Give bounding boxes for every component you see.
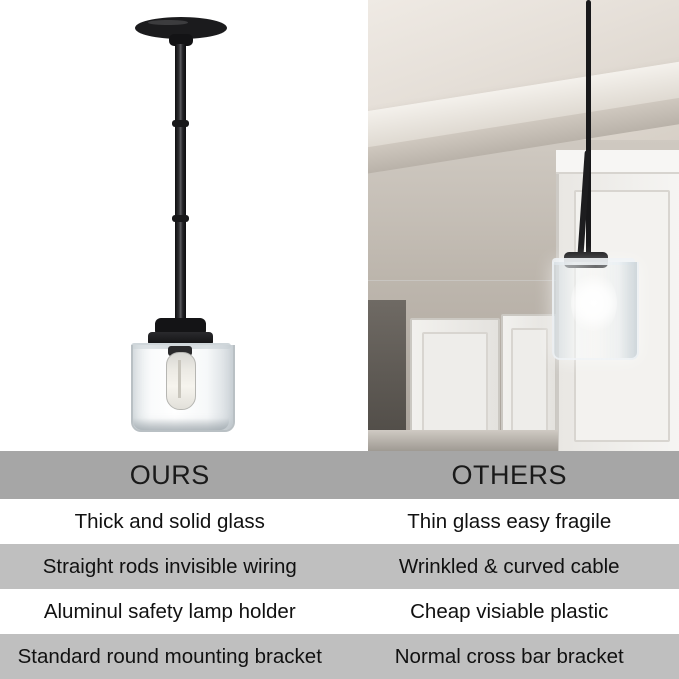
ceiling-plate-highlight bbox=[148, 20, 188, 25]
bulb-glow bbox=[571, 272, 617, 334]
ours-feature-1: Thick and solid glass bbox=[0, 499, 340, 544]
straight-rod bbox=[175, 44, 186, 321]
table-row: Aluminul safety lamp holder Cheap visiab… bbox=[0, 589, 679, 634]
others-feature-2: Wrinkled & curved cable bbox=[340, 544, 679, 589]
ours-feature-3: Aluminul safety lamp holder bbox=[0, 589, 340, 634]
comparison-table: OURS OTHERS Thick and solid glass Thin g… bbox=[0, 451, 679, 679]
header-cell-others: OTHERS bbox=[340, 451, 679, 499]
cabinet-door-left-panel bbox=[422, 332, 488, 441]
comparison-infographic: OURS OTHERS Thick and solid glass Thin g… bbox=[0, 0, 679, 679]
ours-feature-2: Straight rods invisible wiring bbox=[0, 544, 340, 589]
ours-product-image bbox=[0, 0, 368, 451]
others-feature-4: Normal cross bar bracket bbox=[340, 634, 679, 679]
table-row: Standard round mounting bracket Normal c… bbox=[0, 634, 679, 679]
hanging-cable bbox=[586, 0, 591, 258]
glass-shade-shadow bbox=[133, 418, 229, 430]
doorway-shadow bbox=[368, 300, 406, 451]
image-panel bbox=[0, 0, 679, 451]
cabinet-door-middle-panel bbox=[511, 328, 548, 442]
ours-feature-4: Standard round mounting bracket bbox=[0, 634, 340, 679]
rod-joint-lower bbox=[172, 215, 189, 222]
countertop bbox=[368, 430, 558, 451]
upper-cabinet-trim bbox=[556, 150, 679, 174]
others-feature-3: Cheap visiable plastic bbox=[340, 589, 679, 634]
rod-joint-upper bbox=[172, 120, 189, 127]
others-kitchen-image bbox=[368, 0, 679, 451]
others-feature-1: Thin glass easy fragile bbox=[340, 499, 679, 544]
light-bulb bbox=[166, 352, 196, 410]
table-row: Straight rods invisible wiring Wrinkled … bbox=[0, 544, 679, 589]
header-cell-ours: OURS bbox=[0, 451, 340, 499]
table-row: Thick and solid glass Thin glass easy fr… bbox=[0, 499, 679, 544]
table-header-row: OURS OTHERS bbox=[0, 451, 679, 499]
bulb-filament bbox=[178, 360, 181, 398]
